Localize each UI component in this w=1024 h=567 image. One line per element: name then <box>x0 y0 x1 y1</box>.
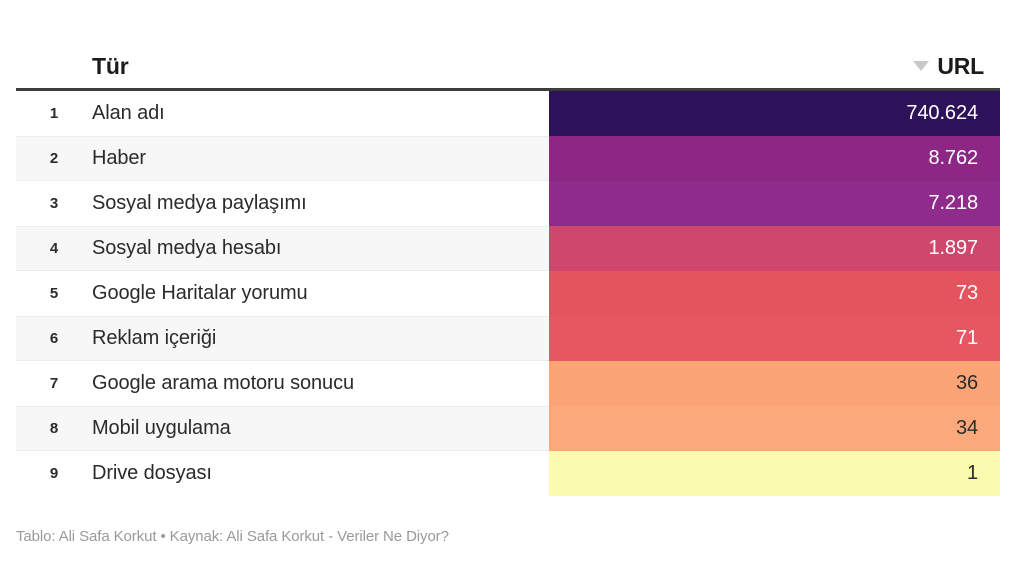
table-row[interactable]: 1Alan adı740.624 <box>16 91 1000 136</box>
cell-type: Mobil uygulama <box>92 417 549 440</box>
cell-url-count: 36 <box>549 372 1000 395</box>
cell-rank: 8 <box>16 420 92 437</box>
column-header-type[interactable]: Tür <box>92 53 913 84</box>
cell-rank: 9 <box>16 465 92 482</box>
table-page: Tür URL 1Alan adı740.6242Haber8.7623Sosy… <box>0 0 1024 567</box>
cell-type: Reklam içeriği <box>92 327 549 350</box>
cell-rank: 7 <box>16 375 92 392</box>
cell-url-count: 8.762 <box>549 147 1000 170</box>
cell-type: Sosyal medya hesabı <box>92 237 549 260</box>
cell-type: Alan adı <box>92 102 549 125</box>
table-header: Tür URL <box>16 36 1000 84</box>
table-row[interactable]: 9Drive dosyası1 <box>16 451 1000 496</box>
cell-url-count: 740.624 <box>549 102 1000 125</box>
cell-url-count: 1.897 <box>549 237 1000 260</box>
cell-url-count: 1 <box>549 462 1000 485</box>
table-row[interactable]: 4Sosyal medya hesabı1.897 <box>16 226 1000 271</box>
cell-type: Google Haritalar yorumu <box>92 282 549 305</box>
cell-url-count: 34 <box>549 417 1000 440</box>
table-row[interactable]: 2Haber8.762 <box>16 136 1000 181</box>
cell-rank: 4 <box>16 240 92 257</box>
cell-rank: 5 <box>16 285 92 302</box>
footer-credit: Tablo: Ali Safa Korkut • Kaynak: Ali Saf… <box>16 528 449 545</box>
table-row[interactable]: 7Google arama motoru sonucu36 <box>16 361 1000 406</box>
table-row[interactable]: 3Sosyal medya paylaşımı7.218 <box>16 181 1000 226</box>
cell-url-count: 7.218 <box>549 192 1000 215</box>
cell-rank: 2 <box>16 150 92 167</box>
cell-rank: 1 <box>16 105 92 122</box>
column-header-url[interactable]: URL <box>913 53 1000 84</box>
cell-url-count: 71 <box>549 327 1000 350</box>
cell-type: Google arama motoru sonucu <box>92 372 549 395</box>
sort-descending-caret-icon[interactable] <box>913 61 929 71</box>
cell-rank: 6 <box>16 330 92 347</box>
cell-type: Drive dosyası <box>92 462 549 485</box>
table-row[interactable]: 6Reklam içeriği71 <box>16 316 1000 361</box>
cell-type: Haber <box>92 147 549 170</box>
cell-url-count: 73 <box>549 282 1000 305</box>
cell-type: Sosyal medya paylaşımı <box>92 192 549 215</box>
table-row[interactable]: 5Google Haritalar yorumu73 <box>16 271 1000 316</box>
column-header-url-label: URL <box>937 53 984 80</box>
table-body: 1Alan adı740.6242Haber8.7623Sosyal medya… <box>16 91 1000 496</box>
cell-rank: 3 <box>16 195 92 212</box>
table-row[interactable]: 8Mobil uygulama34 <box>16 406 1000 451</box>
